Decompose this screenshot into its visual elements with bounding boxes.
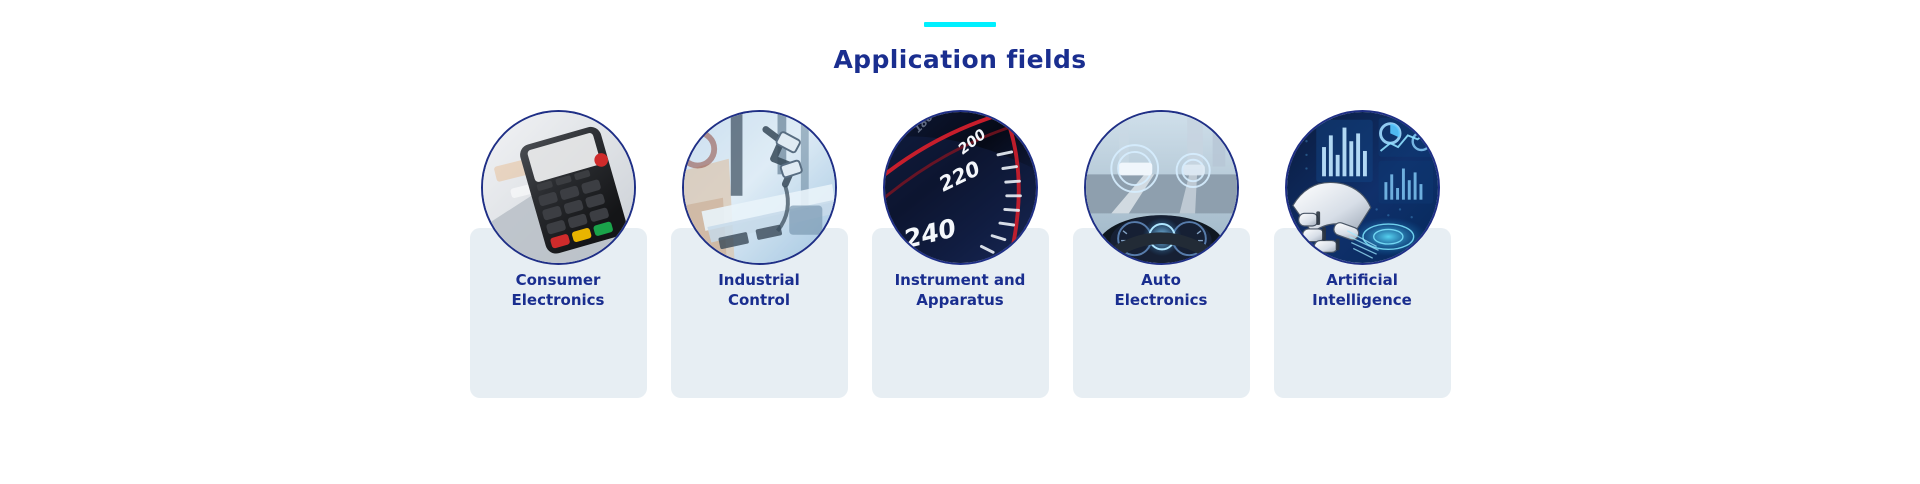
card-image-consumer-electronics	[481, 110, 636, 265]
page-title: Application fields	[0, 47, 1920, 72]
page-header: Application fields	[0, 0, 1920, 72]
card-auto-electronics[interactable]: Auto Electronics	[1073, 110, 1250, 265]
card-label: Instrument and Apparatus	[872, 270, 1049, 311]
card-label: Auto Electronics	[1073, 270, 1250, 311]
card-image-instrument-and-apparatus: 200 220 240 180 160	[883, 110, 1038, 265]
application-fields-list: Consumer Electronics	[0, 110, 1920, 265]
card-label-line1: Instrument and	[872, 270, 1049, 290]
card-image-auto-electronics	[1084, 110, 1239, 265]
card-label: Industrial Control	[671, 270, 848, 311]
card-label: Consumer Electronics	[470, 270, 647, 311]
card-label-line1: Artificial	[1274, 270, 1451, 290]
card-label-line1: Consumer	[470, 270, 647, 290]
card-label-line2: Electronics	[1073, 290, 1250, 310]
card-artificial-intelligence[interactable]: Artificial Intelligence	[1274, 110, 1451, 265]
card-label-line2: Control	[671, 290, 848, 310]
card-industrial-control[interactable]: Industrial Control	[671, 110, 848, 265]
card-instrument-and-apparatus[interactable]: 200 220 240 180 160 Instrument and Appar…	[872, 110, 1049, 265]
card-consumer-electronics[interactable]: Consumer Electronics	[470, 110, 647, 265]
card-label-line2: Intelligence	[1274, 290, 1451, 310]
accent-bar	[924, 22, 996, 27]
card-label-line1: Auto	[1073, 270, 1250, 290]
card-label-line2: Electronics	[470, 290, 647, 310]
card-image-industrial-control	[682, 110, 837, 265]
card-label-line1: Industrial	[671, 270, 848, 290]
card-image-artificial-intelligence	[1285, 110, 1440, 265]
card-label: Artificial Intelligence	[1274, 270, 1451, 311]
card-label-line2: Apparatus	[872, 290, 1049, 310]
